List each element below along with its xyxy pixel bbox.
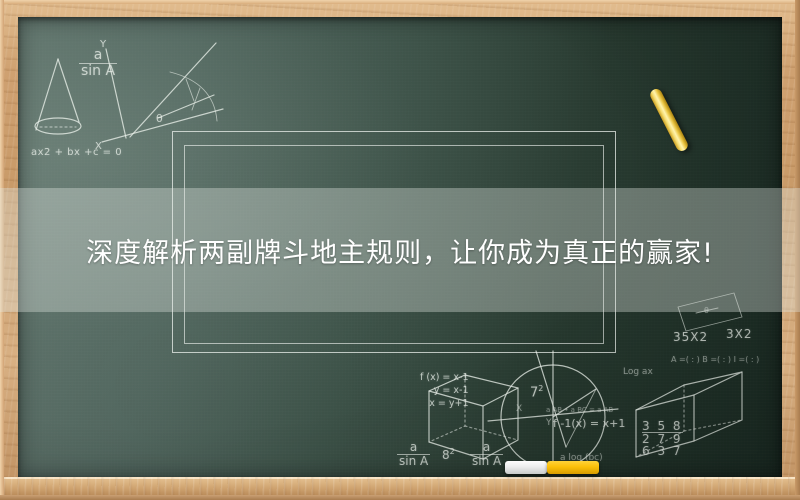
frame-bevel-top [0, 0, 800, 4]
white-chalk-icon [505, 461, 547, 474]
chalk-ledge [4, 477, 795, 495]
blackboard-poster: asin A Y X θ ax2 + bx +c = 0 f (x) = x-1… [0, 0, 800, 500]
frame-bevel-bottom [0, 495, 800, 500]
ledge-grain-texture [4, 477, 795, 495]
page-title: 深度解析两副牌斗地主规则，让你成为真正的赢家! [86, 231, 714, 270]
yellow-chalk-icon [547, 461, 599, 474]
title-overlay-band: 深度解析两副牌斗地主规则，让你成为真正的赢家! [0, 188, 800, 312]
